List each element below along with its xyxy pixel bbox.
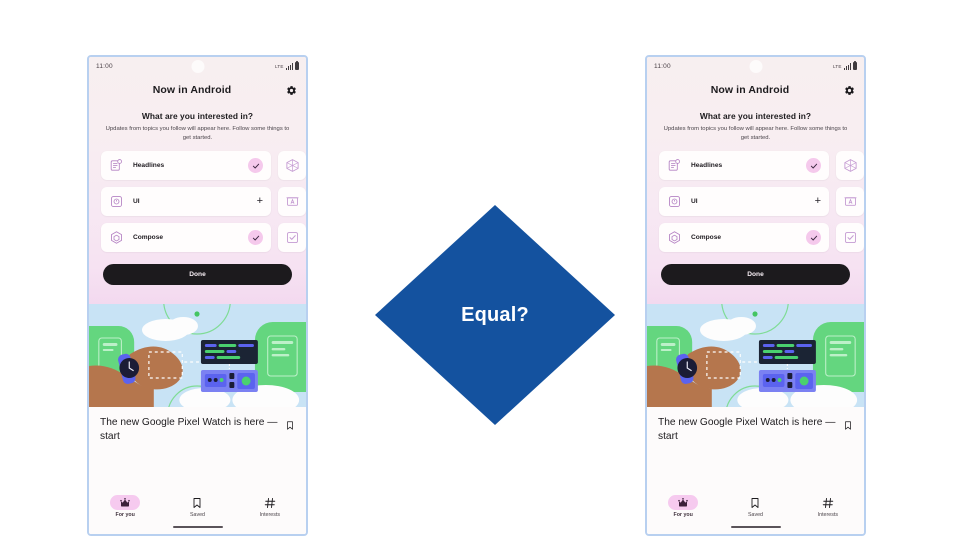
cube-3d-icon [843, 158, 858, 173]
topic-label: Headlines [691, 162, 722, 169]
illustration-artwork [89, 304, 306, 407]
nav-label: Saved [190, 512, 205, 518]
ui-square-icon [109, 194, 124, 209]
nav-item-saved[interactable]: Saved [719, 495, 791, 518]
topic-card-peek-3[interactable] [836, 223, 864, 252]
onboarding-title: What are you interested in? [103, 111, 292, 121]
topic-row: Headlines [659, 151, 864, 180]
nav-item-for-you[interactable]: For you [647, 495, 719, 518]
ui-square-icon [667, 194, 682, 209]
check-icon [806, 230, 821, 245]
headlines-article-icon [109, 158, 124, 173]
topic-card-compose[interactable]: Compose [659, 223, 829, 252]
status-indicators: LTE [833, 62, 857, 70]
app-bar: Now in Android [647, 75, 864, 105]
front-camera-dot [191, 60, 204, 73]
nav-item-for-you[interactable]: For you [89, 495, 161, 518]
nav-label: For you [115, 512, 134, 518]
nav-item-saved[interactable]: Saved [161, 495, 233, 518]
onboarding-subtitle: Updates from topics you follow will appe… [103, 125, 292, 142]
done-button-container: Done [647, 259, 864, 298]
gear-icon[interactable] [286, 85, 297, 96]
status-indicators: LTE [275, 62, 299, 70]
for-you-icon [668, 495, 698, 510]
pixel-watch-illustration [89, 304, 306, 407]
status-bar: 11:00 LTE [89, 57, 306, 75]
signal-bars-icon [844, 63, 851, 70]
topic-card-peek-1[interactable] [836, 151, 864, 180]
done-button[interactable]: Done [661, 264, 850, 285]
topic-follow-toggle[interactable] [806, 230, 821, 245]
topic-row: Compose [659, 223, 864, 252]
illustration-artwork [647, 304, 864, 407]
gradient-top-region: 11:00 LTE Now in Android What are you in… [89, 57, 306, 304]
topic-card-compose[interactable]: Compose [101, 223, 271, 252]
bottom-navigation: For you Saved Interests [647, 492, 864, 534]
hashtag-icon [255, 495, 285, 510]
check-icon [248, 230, 263, 245]
gradient-top-region: 11:00 LTE Now in Android What are you in… [647, 57, 864, 304]
nav-label: For you [673, 512, 692, 518]
topic-card-peek-2[interactable] [836, 187, 864, 216]
status-time: 11:00 [96, 63, 113, 70]
topic-label: Compose [691, 234, 721, 241]
home-indicator[interactable] [731, 526, 781, 528]
onboarding-header: What are you interested in? Updates from… [89, 105, 306, 142]
nav-item-interests[interactable]: Interests [234, 495, 306, 518]
onboarding-title: What are you interested in? [661, 111, 850, 121]
checkbox-icon [285, 230, 300, 245]
topic-row: UI + [101, 187, 306, 216]
topic-card-ui[interactable]: UI + [101, 187, 271, 216]
signal-bars-icon [286, 63, 293, 70]
cube-3d-icon [285, 158, 300, 173]
equality-comparison-diamond: Equal? [375, 205, 615, 425]
battery-icon [295, 62, 299, 70]
topic-row: Compose [101, 223, 306, 252]
topic-label: Compose [133, 234, 163, 241]
bottom-navigation: For you Saved Interests [89, 492, 306, 534]
screenshot-stage: 11:00 LTE Now in Android What are you in… [0, 0, 960, 540]
nav-label: Interests [818, 512, 838, 518]
topic-card-peek-2[interactable] [278, 187, 306, 216]
bookmark-icon[interactable] [285, 419, 295, 432]
topic-card-peek-1[interactable] [278, 151, 306, 180]
article-card[interactable]: The new Google Pixel Watch is here — sta… [89, 407, 306, 492]
topic-card-peek-3[interactable] [278, 223, 306, 252]
topic-card-ui[interactable]: UI + [659, 187, 829, 216]
topic-label: UI [691, 198, 698, 205]
nav-item-interests[interactable]: Interests [792, 495, 864, 518]
for-you-icon [110, 495, 140, 510]
pixel-watch-illustration [647, 304, 864, 407]
topic-card-headlines[interactable]: Headlines [659, 151, 829, 180]
article-title: The new Google Pixel Watch is here — sta… [100, 416, 285, 492]
topic-row: UI + [659, 187, 864, 216]
battery-icon [853, 62, 857, 70]
compose-hexagon-icon [667, 230, 682, 245]
front-camera-dot [749, 60, 762, 73]
topic-follow-toggle[interactable]: + [815, 196, 821, 207]
nav-label: Interests [260, 512, 280, 518]
done-button[interactable]: Done [103, 264, 292, 285]
bookmark-icon [182, 495, 212, 510]
check-icon [806, 158, 821, 173]
status-bar: 11:00 LTE [647, 57, 864, 75]
topic-row: Headlines [101, 151, 306, 180]
plus-icon: + [257, 196, 263, 207]
home-indicator[interactable] [173, 526, 223, 528]
onboarding-subtitle: Updates from topics you follow will appe… [661, 125, 850, 142]
topic-selection-grid: Headlines [89, 151, 306, 252]
checkbox-icon [843, 230, 858, 245]
topic-selection-grid: Headlines [647, 151, 864, 252]
network-label: LTE [275, 64, 284, 69]
phone-mockup-left: 11:00 LTE Now in Android What are you in… [87, 55, 308, 536]
article-title: The new Google Pixel Watch is here — sta… [658, 416, 843, 492]
nav-label: Saved [748, 512, 763, 518]
diamond-shape [375, 205, 615, 425]
page-title: Now in Android [98, 84, 286, 96]
bookmark-icon [740, 495, 770, 510]
topic-card-headlines[interactable]: Headlines [101, 151, 271, 180]
phone-mockup-right: 11:00 LTE Now in Android What are you in… [645, 55, 866, 536]
page-title: Now in Android [656, 84, 844, 96]
presentation-a-icon [843, 194, 858, 209]
network-label: LTE [833, 64, 842, 69]
topic-follow-toggle[interactable] [806, 158, 821, 173]
compose-hexagon-icon [109, 230, 124, 245]
gear-icon[interactable] [844, 85, 855, 96]
done-button-container: Done [89, 259, 306, 298]
onboarding-header: What are you interested in? Updates from… [647, 105, 864, 142]
topic-follow-toggle[interactable] [248, 158, 263, 173]
presentation-a-icon [285, 194, 300, 209]
headlines-article-icon [667, 158, 682, 173]
article-card[interactable]: The new Google Pixel Watch is here — sta… [647, 407, 864, 492]
topic-label: Headlines [133, 162, 164, 169]
hashtag-icon [813, 495, 843, 510]
status-time: 11:00 [654, 63, 671, 70]
plus-icon: + [815, 196, 821, 207]
topic-follow-toggle[interactable]: + [257, 196, 263, 207]
topic-label: UI [133, 198, 140, 205]
app-bar: Now in Android [89, 75, 306, 105]
check-icon [248, 158, 263, 173]
topic-follow-toggle[interactable] [248, 230, 263, 245]
bookmark-icon[interactable] [843, 419, 853, 432]
